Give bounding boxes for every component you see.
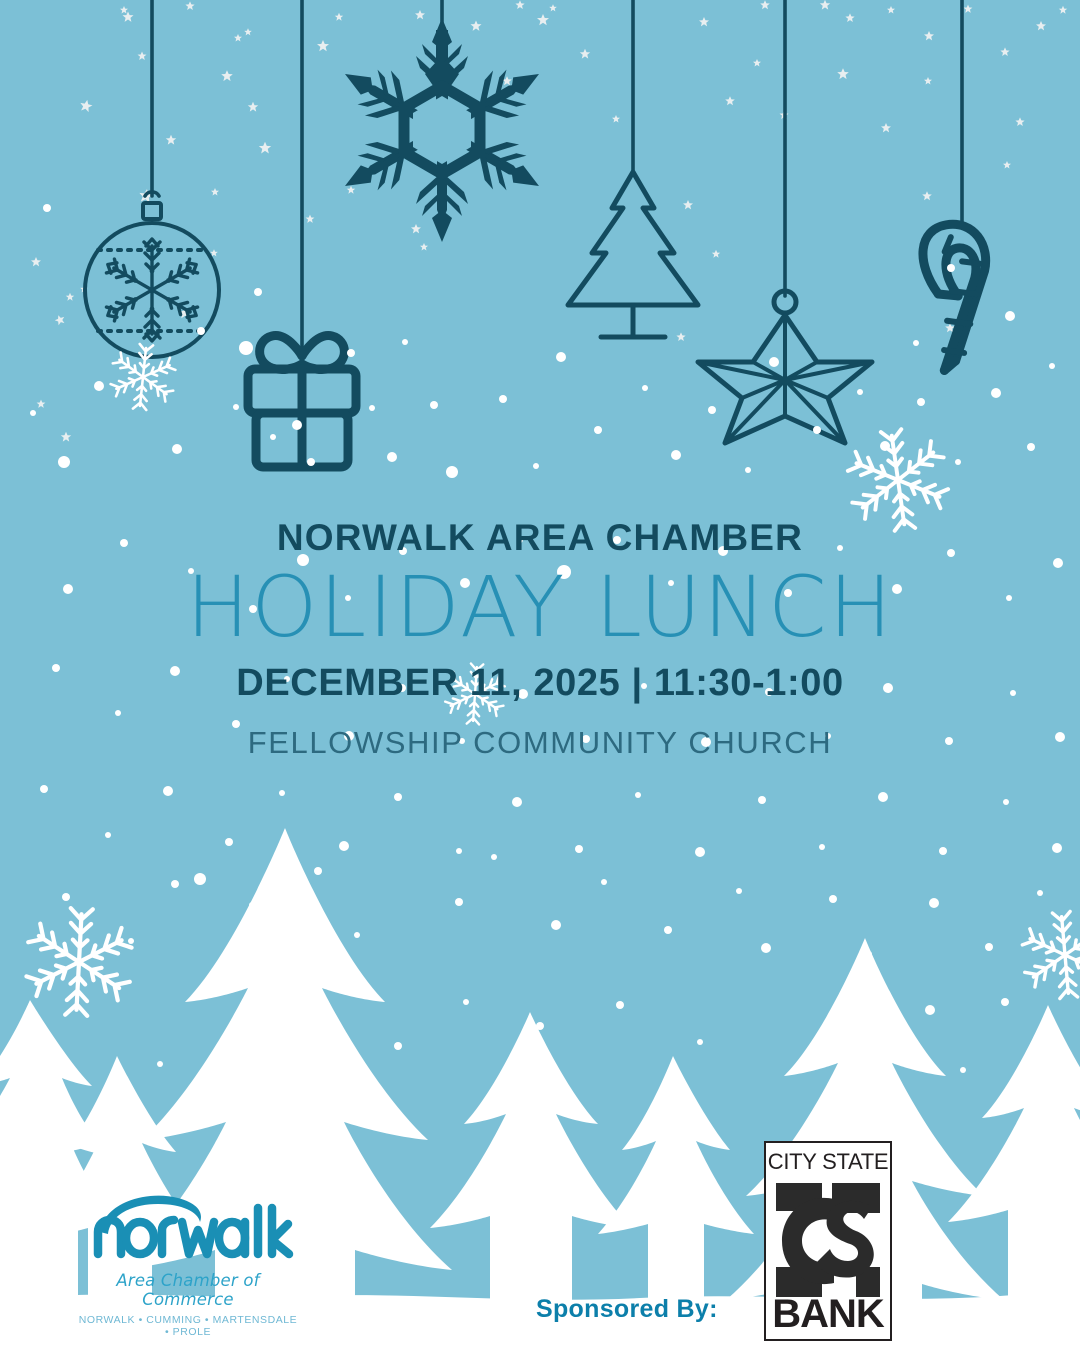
csb-bottom-text: BANK bbox=[766, 1292, 890, 1337]
norwalk-wordmark-icon bbox=[78, 1192, 298, 1270]
tree-skyline-layer bbox=[0, 0, 1080, 1350]
csb-monogram-icon bbox=[772, 1181, 884, 1301]
city-state-bank-logo: CITY STATE BANK bbox=[764, 1141, 892, 1341]
csb-top-text: CITY STATE bbox=[766, 1149, 890, 1175]
holiday-lunch-flyer: NORWALK AREA CHAMBER HOLIDAY LUNCH DECEM… bbox=[0, 0, 1080, 1350]
norwalk-logo-tagline: Area Chamber of Commerce bbox=[78, 1271, 298, 1309]
sponsored-by-label: Sponsored By: bbox=[536, 1295, 718, 1324]
norwalk-chamber-logo: Area Chamber of Commerce NORWALK • CUMMI… bbox=[78, 1192, 298, 1338]
norwalk-logo-cities: NORWALK • CUMMING • MARTENSDALE • PROLE bbox=[78, 1314, 298, 1338]
